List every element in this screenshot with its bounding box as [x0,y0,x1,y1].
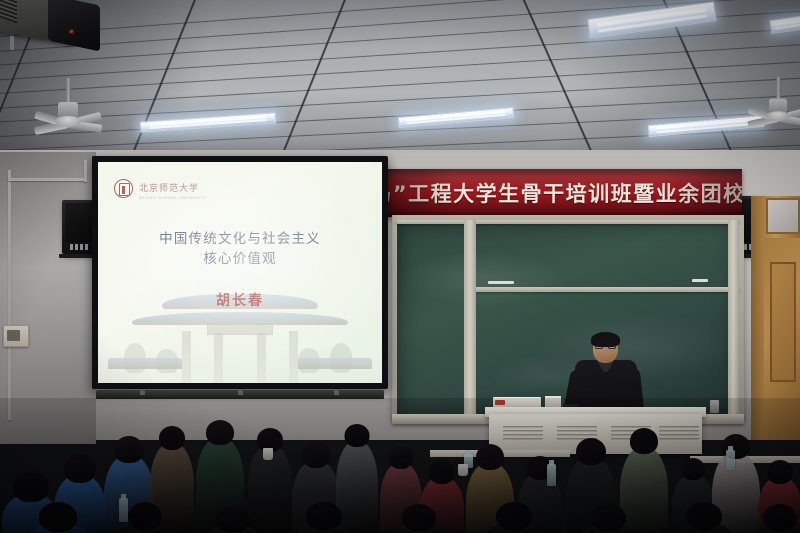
water-bottle [547,464,556,486]
university-seal-icon [114,179,133,198]
screen-bracket [238,389,243,395]
audience-member-head [128,502,162,530]
gate-column [289,331,298,383]
chalkboard-rail-top [397,220,739,224]
audience-member-head [306,502,342,530]
logo-name-en: BEIJING NORMAL UNIVERSITY [139,196,207,200]
audience-member-head [686,502,722,530]
gate-side-wall [298,358,372,369]
projector-vents [0,0,17,23]
audience-member-head [302,442,330,468]
wall-conduit-riser [84,160,87,182]
audience-member [582,504,636,533]
screen-bracket [334,389,339,395]
slide-university-logo: 北京师范大学 BEIJING NORMAL UNIVERSITY [114,176,207,200]
audience-member [206,506,260,533]
paper-cup [263,448,273,460]
fan-rod [66,78,71,104]
audience-member-head [763,504,797,531]
slide-title: 中国传统文化与社会主义 核心价值观 [98,230,382,269]
audience-member-head [345,424,370,447]
projector-lens [48,0,100,52]
audience-member [676,502,732,533]
ceiling-fan [38,78,98,138]
slide-title-line1: 中国传统文化与社会主义 [98,230,382,250]
audience-member-head [206,420,234,445]
audience-member-head [576,438,606,465]
audience-member-head [13,472,49,502]
audience-member-head [476,444,504,470]
ceiling [0,0,800,170]
audience-member-head [159,426,185,450]
slide-presenter-name: 胡长春 [98,290,382,310]
door-inset-panel [770,262,796,382]
speaker-grill [65,203,93,242]
banner-edge-shadow [374,169,742,217]
water-bottle [119,498,128,522]
wall-conduit-vertical [8,170,11,420]
gate-column [257,333,266,383]
wall-conduit-horizontal [8,178,86,181]
audience-member-head [630,428,658,454]
wall-speaker [62,200,96,254]
lecture-hall-photo: 马”工程大学生骨干培训班暨业余团校 [0,0,800,533]
red-banner: 马”工程大学生骨干培训班暨业余团校 [374,169,742,217]
gate-side-wall [108,358,182,369]
audience-member [754,504,800,533]
audience-member-head [429,460,455,484]
speaker-badge [70,244,88,250]
slide-title-line2: 核心价值观 [98,250,382,270]
chalkboard-slide-rail-right[interactable] [728,220,739,415]
fan-rod [776,77,781,100]
gate-column [214,333,223,383]
door-glass-panel [766,198,800,234]
audience-member-head [389,446,413,469]
chalkboard-rail-middle [474,287,739,292]
audience-member-head [216,506,250,532]
chalk-mark [488,281,514,284]
light-switch-panel[interactable] [3,325,29,347]
gate-column [182,331,191,383]
audience-member-head [767,460,793,484]
logo-name-cn: 北京师范大学 [139,184,199,194]
audience-member-head [39,502,77,532]
audience-member [296,502,352,533]
fan-hub [55,116,81,127]
audience-member-head [496,502,532,530]
projector-power-led [70,30,73,33]
audience-member [28,502,88,533]
glasses-icon [595,344,616,349]
chalk-mark [692,279,708,282]
audience-member-head [64,454,96,483]
water-bottle [726,450,735,470]
fan-hub [766,111,789,121]
audience [0,398,800,533]
audience-member-head [681,458,705,480]
ceiling-fan [751,77,800,131]
chalkboard-slide-rail-left[interactable] [464,220,476,415]
paper-cup [458,464,468,476]
ceiling-projector [0,0,92,46]
audience-member-head [592,504,626,531]
logo-text-block: 北京师范大学 BEIJING NORMAL UNIVERSITY [139,176,207,200]
projection-screen-surface: 北京师范大学 BEIJING NORMAL UNIVERSITY 中国传统文化与… [98,162,382,383]
projector-mount [10,36,14,51]
slide-artwork-paifang-gate [98,271,382,383]
screen-bracket [140,389,145,395]
audience-member-head [114,436,144,463]
audience-member [486,502,542,533]
audience-member [392,504,446,533]
audience-member-head [402,504,436,531]
projection-screen: 北京师范大学 BEIJING NORMAL UNIVERSITY 中国传统文化与… [92,156,388,389]
